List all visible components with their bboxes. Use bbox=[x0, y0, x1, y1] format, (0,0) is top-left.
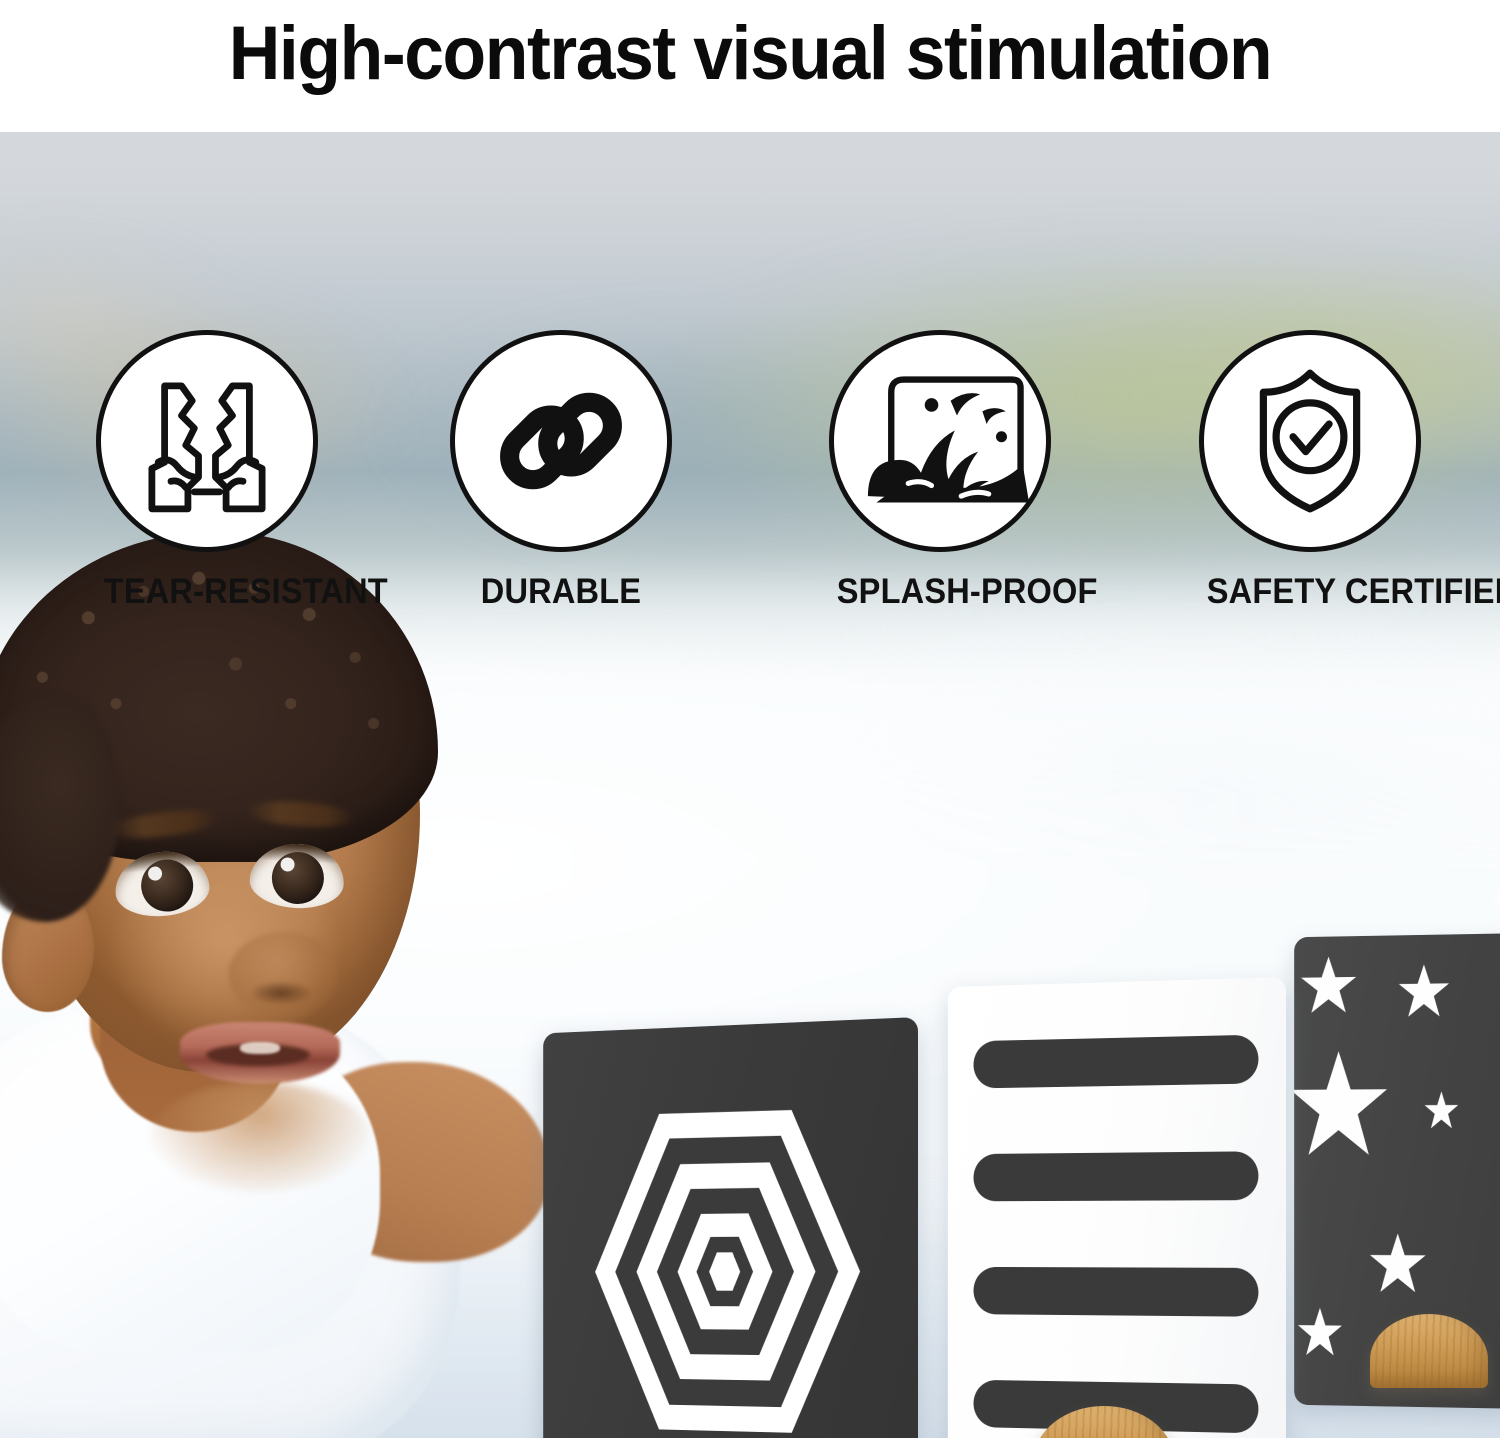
safety-certified-badge bbox=[1199, 330, 1421, 552]
baby-chin bbox=[150, 1082, 370, 1192]
star-shape bbox=[1398, 963, 1450, 1020]
baby-nostrils bbox=[252, 982, 310, 1004]
stripe-shape bbox=[974, 1151, 1258, 1201]
water-splash-icon bbox=[834, 335, 1046, 547]
shield-check-icon bbox=[1204, 335, 1416, 547]
feature-label: DURABLE bbox=[458, 572, 664, 612]
feature-safety-certified: SAFETY CERTIFIED bbox=[1199, 330, 1421, 612]
feature-durable: DURABLE bbox=[450, 330, 672, 612]
splash-proof-badge bbox=[829, 330, 1051, 552]
star-shape bbox=[1297, 1307, 1343, 1359]
durable-badge bbox=[450, 330, 672, 552]
chain-link-icon bbox=[455, 335, 667, 547]
product-feature-image: TEAR-RESISTANT DURABLE bbox=[0, 0, 1500, 1438]
stripe-shape bbox=[974, 1035, 1258, 1089]
baby-tooth bbox=[240, 1042, 280, 1054]
star-shape bbox=[1369, 1232, 1427, 1296]
feature-tear-resistant: TEAR-RESISTANT bbox=[96, 330, 318, 612]
feature-label: SAFETY CERTIFIED bbox=[1207, 572, 1413, 612]
lifestyle-photo: TEAR-RESISTANT DURABLE bbox=[0, 132, 1500, 1438]
star-shape bbox=[1294, 1049, 1389, 1162]
stripe-shape bbox=[974, 1267, 1258, 1317]
feature-label: SPLASH-PROOF bbox=[837, 572, 1043, 612]
page-title: High-contrast visual stimulation bbox=[45, 0, 1455, 108]
feature-label: TEAR-RESISTANT bbox=[104, 572, 310, 612]
tear-resistant-badge bbox=[96, 330, 318, 552]
title-bar: High-contrast visual stimulation bbox=[0, 0, 1500, 132]
tear-resistant-icon bbox=[101, 335, 313, 547]
hexagon-card bbox=[543, 1017, 918, 1438]
star-shape bbox=[1424, 1091, 1459, 1131]
feature-splash-proof: SPLASH-PROOF bbox=[829, 330, 1051, 612]
stripes-card bbox=[948, 977, 1286, 1438]
baby-nose bbox=[228, 932, 338, 1020]
feature-badge-row: TEAR-RESISTANT DURABLE bbox=[0, 264, 1500, 624]
star-shape bbox=[1300, 955, 1357, 1017]
